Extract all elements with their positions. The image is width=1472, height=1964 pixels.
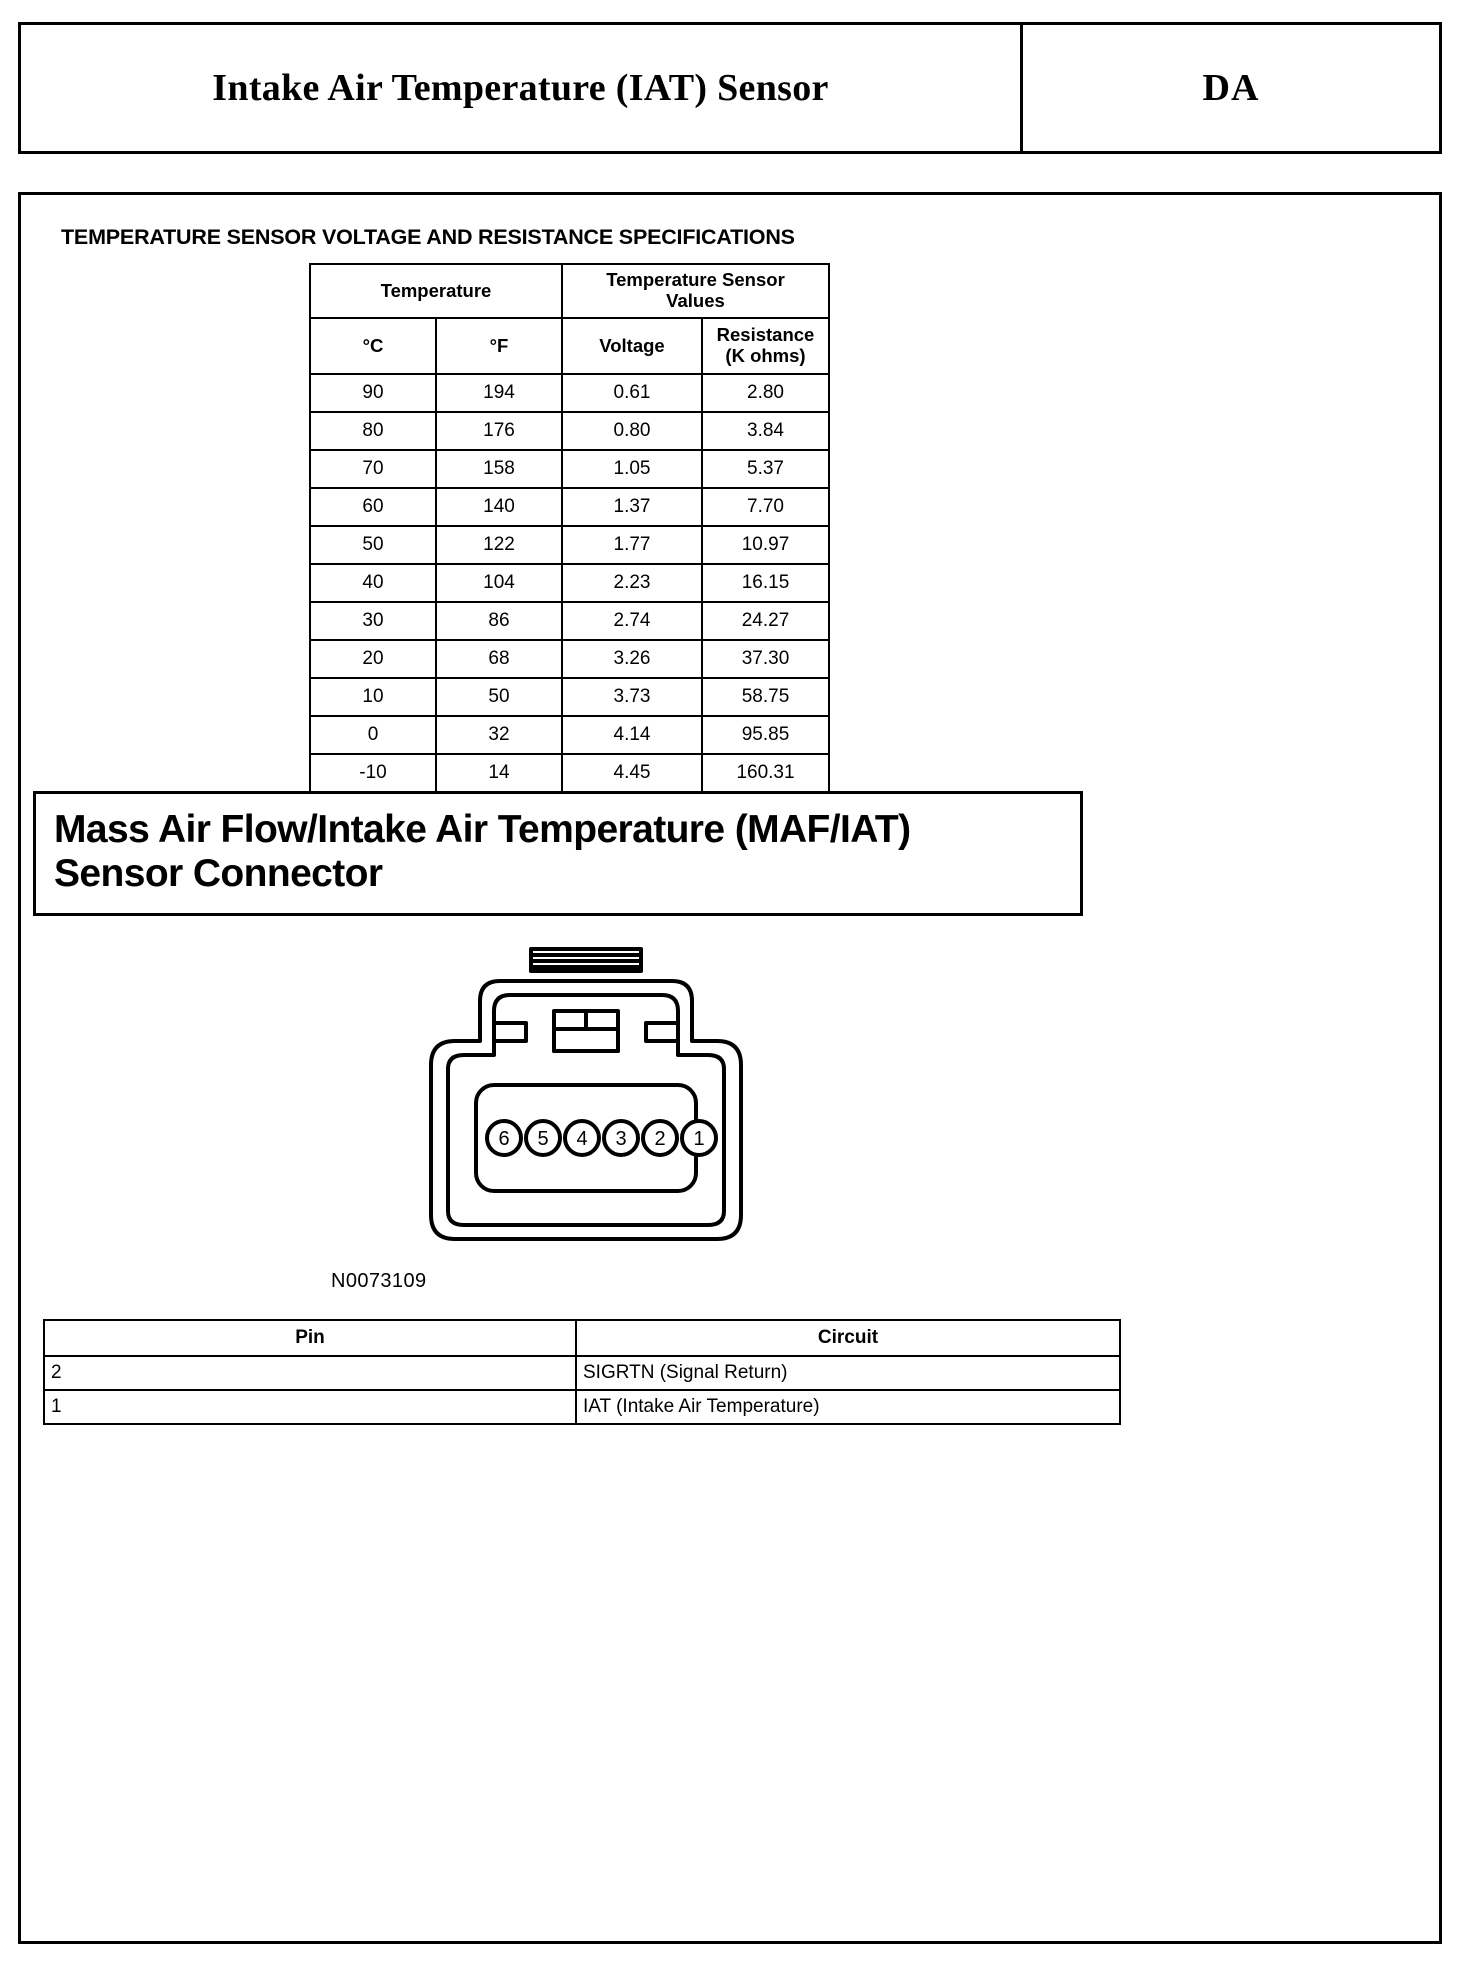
connector-keyway-detail [554,1011,618,1051]
column-header-resistance: Resistance (K ohms) [702,318,829,374]
cell-fahrenheit: 104 [436,564,562,602]
pin-number-5: 5 [537,1128,548,1150]
group-header-sensor-values-line2: Values [563,291,828,312]
table-row: 501221.7710.97 [310,526,829,564]
connector-top-tab [531,949,641,971]
cell-fahrenheit: 14 [436,754,562,792]
page-code-cell: DA [1023,25,1439,151]
column-header-celsius: °C [310,318,436,374]
table-row: 2 SIGRTN (Signal Return) [44,1356,1120,1390]
cell-voltage: 2.74 [562,602,702,640]
table-row: 30862.7424.27 [310,602,829,640]
table-row: 10503.7358.75 [310,678,829,716]
cell-resistance: 58.75 [702,678,829,716]
temperature-spec-table: Temperature Temperature Sensor Values °C… [309,263,830,793]
cell-voltage: 1.77 [562,526,702,564]
cell-fahrenheit: 122 [436,526,562,564]
cell-voltage: 4.14 [562,716,702,754]
connector-heading-line2: Sensor Connector [54,852,1062,896]
connector-heading-line1: Mass Air Flow/Intake Air Temperature (MA… [54,808,1062,852]
table-row: 601401.377.70 [310,488,829,526]
cell-voltage: 1.05 [562,450,702,488]
cell-voltage: 1.37 [562,488,702,526]
group-header-sensor-values: Temperature Sensor Values [562,264,829,318]
table-column-header-row: °C °F Voltage Resistance (K ohms) [310,318,829,374]
cell-resistance: 10.97 [702,526,829,564]
cell-voltage: 0.80 [562,412,702,450]
cell-resistance: 5.37 [702,450,829,488]
page-title: Intake Air Temperature (IAT) Sensor [212,66,828,110]
table-row: 801760.803.84 [310,412,829,450]
cell-fahrenheit: 158 [436,450,562,488]
cell-celsius: -10 [310,754,436,792]
cell-celsius: 10 [310,678,436,716]
pin-table-header-row: Pin Circuit [44,1320,1120,1356]
connector-diagram: 6 5 4 3 2 1 [376,945,796,1275]
diagram-reference-caption: N0073109 [331,1270,427,1293]
cell-fahrenheit: 50 [436,678,562,716]
pin-number-2: 2 [654,1128,665,1150]
column-header-voltage: Voltage [562,318,702,374]
pin-circuit-table: Pin Circuit 2 SIGRTN (Signal Return) 1 I… [43,1319,1121,1425]
cell-resistance: 2.80 [702,374,829,412]
table-row: 1 IAT (Intake Air Temperature) [44,1390,1120,1424]
group-header-temperature: Temperature [310,264,562,318]
cell-celsius: 90 [310,374,436,412]
pin-number-1: 1 [693,1128,704,1150]
cell-fahrenheit: 68 [436,640,562,678]
column-header-resistance-line2: (K ohms) [703,346,828,367]
cell-voltage: 2.23 [562,564,702,602]
cell-fahrenheit: 32 [436,716,562,754]
cell-celsius: 80 [310,412,436,450]
pin-number-4: 4 [576,1128,587,1150]
spec-section-title: TEMPERATURE SENSOR VOLTAGE AND RESISTANC… [61,225,795,250]
cell-voltage: 0.61 [562,374,702,412]
cell-celsius: 50 [310,526,436,564]
cell-celsius: 70 [310,450,436,488]
column-header-fahrenheit: °F [436,318,562,374]
page-title-cell: Intake Air Temperature (IAT) Sensor [21,25,1023,151]
pin-number-3: 3 [615,1128,626,1150]
cell-pin: 2 [44,1356,576,1390]
page-section-code: DA [1203,66,1260,110]
table-row: 20683.2637.30 [310,640,829,678]
cell-celsius: 60 [310,488,436,526]
cell-resistance: 95.85 [702,716,829,754]
cell-resistance: 37.30 [702,640,829,678]
cell-celsius: 0 [310,716,436,754]
cell-celsius: 20 [310,640,436,678]
column-header-circuit: Circuit [576,1320,1120,1356]
cell-fahrenheit: 194 [436,374,562,412]
pin-number-6: 6 [498,1128,509,1150]
content-frame: TEMPERATURE SENSOR VOLTAGE AND RESISTANC… [18,192,1442,1944]
cell-resistance: 7.70 [702,488,829,526]
table-row: 901940.612.80 [310,374,829,412]
table-row: 701581.055.37 [310,450,829,488]
cell-pin: 1 [44,1390,576,1424]
cell-circuit: IAT (Intake Air Temperature) [576,1390,1120,1424]
cell-voltage: 3.26 [562,640,702,678]
connector-section-heading: Mass Air Flow/Intake Air Temperature (MA… [33,791,1083,916]
column-header-resistance-line1: Resistance [703,325,828,346]
group-header-sensor-values-line1: Temperature Sensor [563,270,828,291]
cell-resistance: 16.15 [702,564,829,602]
cell-circuit: SIGRTN (Signal Return) [576,1356,1120,1390]
temperature-spec-table-body: 901940.612.80 801760.803.84 701581.055.3… [310,374,829,792]
column-header-pin: Pin [44,1320,576,1356]
cell-fahrenheit: 86 [436,602,562,640]
cell-celsius: 40 [310,564,436,602]
table-row: 0324.1495.85 [310,716,829,754]
page-header: Intake Air Temperature (IAT) Sensor DA [18,22,1442,154]
cell-resistance: 3.84 [702,412,829,450]
cell-resistance: 24.27 [702,602,829,640]
table-group-header-row: Temperature Temperature Sensor Values [310,264,829,318]
cell-celsius: 30 [310,602,436,640]
pin-circuit-table-body: 2 SIGRTN (Signal Return) 1 IAT (Intake A… [44,1356,1120,1424]
table-row: -10144.45160.31 [310,754,829,792]
cell-resistance: 160.31 [702,754,829,792]
cell-fahrenheit: 140 [436,488,562,526]
cell-fahrenheit: 176 [436,412,562,450]
cell-voltage: 3.73 [562,678,702,716]
cell-voltage: 4.45 [562,754,702,792]
table-row: 401042.2316.15 [310,564,829,602]
